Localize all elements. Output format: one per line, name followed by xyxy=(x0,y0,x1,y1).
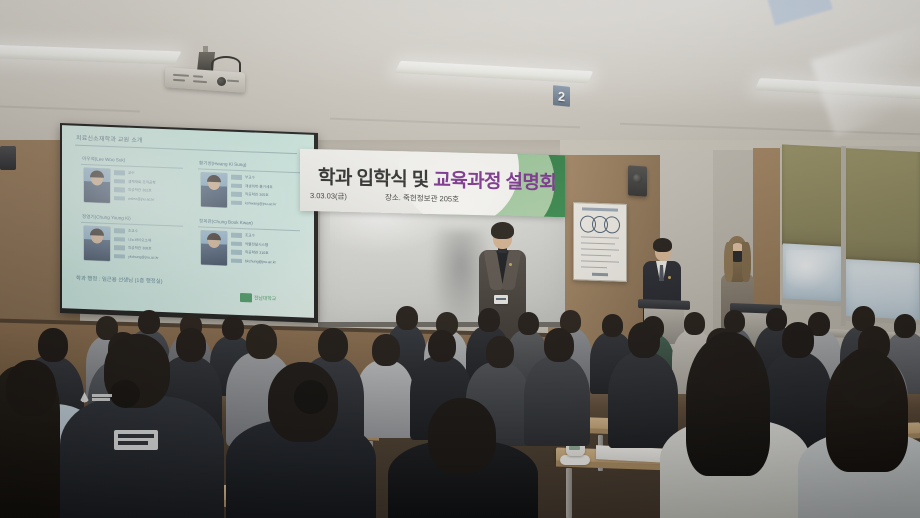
projector-cable xyxy=(211,56,241,72)
face-mask-on-desk xyxy=(560,455,590,465)
detail-value: 의공학관 302호 xyxy=(128,188,152,194)
poster-ring xyxy=(604,216,620,234)
detail-value: 생체재료·조직공학 xyxy=(128,179,156,185)
detail-value: wslee@jnu.ac.kr xyxy=(128,197,154,202)
event-banner: 학과 입학식 및 교육과정 설명회 3.03.03(금) 장소. 죽헌정보관 2… xyxy=(300,149,565,217)
wall-speaker-icon xyxy=(628,165,647,196)
banner-title-part2: 교육과정 설명회 xyxy=(433,170,556,194)
hair-strand-left xyxy=(724,242,733,282)
banner-date: 3.03.03(금) xyxy=(310,190,347,202)
speaker-cone xyxy=(633,174,642,184)
name-badge xyxy=(494,295,508,304)
hair-shape xyxy=(90,170,104,178)
detail-value: 나노바이오소재 xyxy=(128,237,151,243)
professor-detail-rows: 교수 생체재료·조직공학 의공학관 302호 wslee@jnu.ac.kr xyxy=(114,170,156,205)
professor-photo xyxy=(201,230,227,265)
detail-value: 의공학관 310호 xyxy=(245,250,269,256)
professor-detail-rows: 부교수 재생의학·줄기세포 의공학관 305호 kshwang@jnu.ac.k… xyxy=(231,175,276,211)
slide-professor-card: 황기성(Hwang Ki Sung) 부교수 재생의학·줄기세포 의공학관 30… xyxy=(195,160,303,224)
poster-rings-logo xyxy=(580,215,620,232)
professor-name: 정영기(Chung Young Ki) xyxy=(82,214,131,222)
professor-photo xyxy=(84,226,110,261)
speaker-hair xyxy=(491,222,514,239)
detail-value: kshwang@jnu.ac.kr xyxy=(245,201,276,206)
detail-value: 조교수 xyxy=(245,233,255,238)
detail-value: bkchung@jnu.ac.kr xyxy=(245,259,276,264)
podium-top xyxy=(638,299,690,310)
poster-header-bar xyxy=(582,207,618,211)
projection-screen: 치료신소재학과 교원 소개 이우석(Lee Woo Suk) 교수 생체재료·조… xyxy=(62,125,314,318)
slide-title-rule xyxy=(75,145,297,155)
hair-strand-right xyxy=(742,242,751,282)
professor-name: 황기성(Hwang Ki Sung) xyxy=(199,160,246,168)
hair xyxy=(653,238,672,252)
professor-photo xyxy=(201,172,227,207)
slide-professor-card: 정영기(Chung Young Ki) 조교수 나노바이오소재 의공학관 308… xyxy=(78,214,186,278)
professor-name: 정복관(Chung Book Kwan) xyxy=(199,218,253,226)
logo-mark xyxy=(240,292,252,301)
detail-value: 의공학관 305호 xyxy=(245,192,269,198)
hair-shape xyxy=(207,233,221,241)
professor-photo xyxy=(84,168,110,203)
poster-seal xyxy=(592,273,608,277)
lapel-pin xyxy=(509,263,512,266)
jacket-brand-logo xyxy=(78,392,112,406)
wall-speaker-left-icon xyxy=(0,146,16,170)
detail-value: 교수 xyxy=(128,171,135,176)
projector-lens xyxy=(217,77,226,86)
window-daylight-glow xyxy=(786,250,836,290)
lecture-hall-photo: 2 치료신소재학과 교원 소개 이우석(Lee Woo Suk) 교수 생체재료… xyxy=(0,0,920,518)
detail-value: 조교수 xyxy=(128,229,138,234)
professor-detail-rows: 조교수 약물전달시스템 의공학관 310호 bkchung@jnu.ac.kr xyxy=(231,233,276,269)
professor-detail-rows: 조교수 나노바이오소재 의공학관 308호 ykchung@jnu.ac.kr xyxy=(114,228,159,264)
window-mullion-vertical xyxy=(841,146,846,326)
slide-title: 치료신소재학과 교원 소개 xyxy=(76,133,143,145)
lapel-pin xyxy=(668,276,671,279)
window-blind-2[interactable] xyxy=(844,148,920,264)
logo-text: 전남대학교 xyxy=(254,294,276,302)
window-blind-1[interactable] xyxy=(782,144,844,247)
slide-professor-card: 이우석(Lee Woo Suk) 교수 생체재료·조직공학 의공학관 302호 … xyxy=(78,156,186,220)
university-logo: 전남대학교 xyxy=(240,292,298,304)
banner-title-part1: 학과 입학식 및 xyxy=(318,167,433,191)
hair-shape xyxy=(90,228,104,236)
banner-place: 장소. 죽헌정보관 205호 xyxy=(385,192,459,205)
badge-text-line xyxy=(496,298,506,300)
detail-value: 재생의학·줄기세포 xyxy=(245,184,273,190)
detail-value: 약물전달시스템 xyxy=(245,242,268,248)
projector-icon xyxy=(165,60,245,88)
detail-value: 부교수 xyxy=(245,175,255,180)
slide-professor-card: 정복관(Chung Book Kwan) 조교수 약물전달시스템 의공학관 31… xyxy=(195,218,303,282)
wall-certificate-poster xyxy=(573,202,627,282)
room-number-sign: 2 xyxy=(553,85,570,107)
hair-shape xyxy=(207,175,221,183)
detail-value: 의공학관 308호 xyxy=(128,246,152,252)
detail-value: ykchung@jnu.ac.kr xyxy=(128,255,159,260)
banner-title: 학과 입학식 및 교육과정 설명회 xyxy=(318,162,556,195)
professor-name: 이우석(Lee Woo Suk) xyxy=(82,156,125,164)
